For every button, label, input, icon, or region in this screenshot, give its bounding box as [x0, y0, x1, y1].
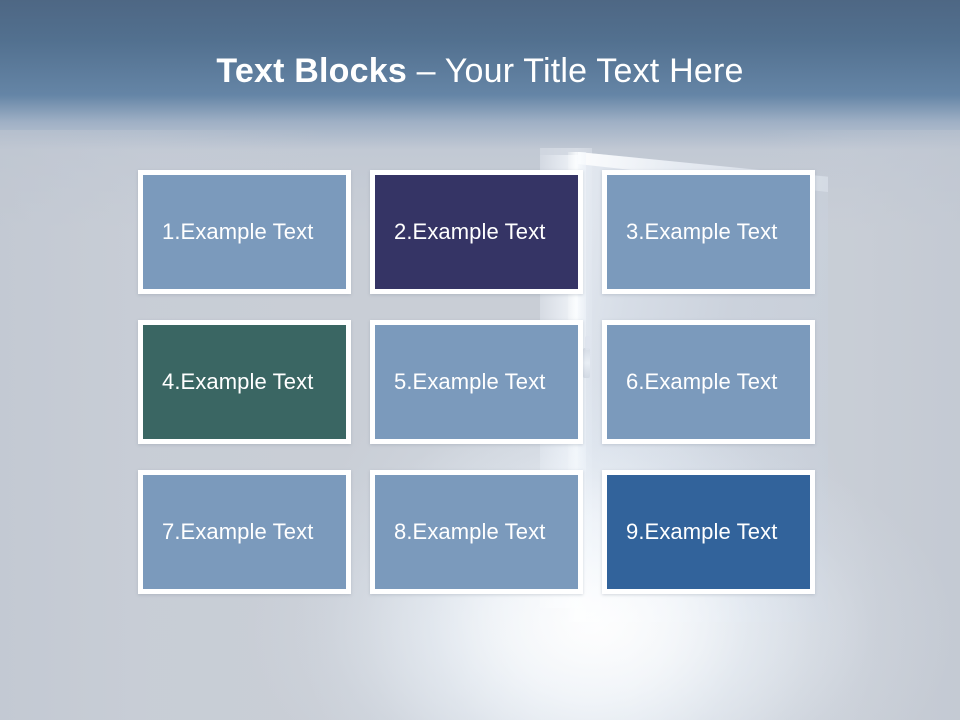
text-block-5-label: 5.Example Text — [375, 369, 545, 395]
text-block-5[interactable]: 5.Example Text — [370, 320, 583, 444]
page-title-separator: – — [407, 52, 445, 90]
page-title: Text Blocks – Your Title Text Here — [0, 50, 960, 92]
page-title-regular: Your Title Text Here — [445, 52, 744, 90]
text-block-2-label: 2.Example Text — [375, 219, 545, 245]
text-blocks-grid: 1.Example Text 2.Example Text 3.Example … — [138, 170, 816, 594]
text-block-8[interactable]: 8.Example Text — [370, 470, 583, 594]
text-block-2[interactable]: 2.Example Text — [370, 170, 583, 294]
text-block-7[interactable]: 7.Example Text — [138, 470, 351, 594]
text-block-1-label: 1.Example Text — [143, 219, 313, 245]
text-block-9[interactable]: 9.Example Text — [602, 470, 815, 594]
text-block-1[interactable]: 1.Example Text — [138, 170, 351, 294]
slide-canvas: Text Blocks – Your Title Text Here 1.Exa… — [0, 0, 960, 720]
text-block-4-label: 4.Example Text — [143, 369, 313, 395]
text-block-3[interactable]: 3.Example Text — [602, 170, 815, 294]
text-block-4[interactable]: 4.Example Text — [138, 320, 351, 444]
text-block-6[interactable]: 6.Example Text — [602, 320, 815, 444]
text-block-8-label: 8.Example Text — [375, 519, 545, 545]
title-banner: Text Blocks – Your Title Text Here — [0, 0, 960, 132]
text-block-3-label: 3.Example Text — [607, 219, 777, 245]
text-block-6-label: 6.Example Text — [607, 369, 777, 395]
text-block-7-label: 7.Example Text — [143, 519, 313, 545]
page-title-bold: Text Blocks — [216, 52, 407, 90]
text-block-9-label: 9.Example Text — [607, 519, 777, 545]
